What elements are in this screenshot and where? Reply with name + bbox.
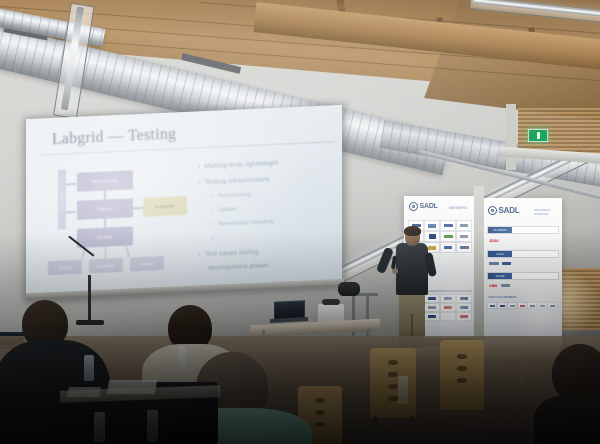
banner-right-associate-grid [487, 302, 557, 309]
banner-band-gold: GOLD [487, 250, 559, 258]
diagram-box-top: Test Scripts [77, 170, 133, 192]
chair-backrest-slot [315, 398, 325, 403]
emergency-exit-sign [528, 129, 548, 142]
banner-band-platinum: PLATINUM [487, 226, 559, 234]
sponsor-logo-cell [497, 302, 507, 309]
slide-bullet-4: ▪Networking / bonding [212, 219, 274, 228]
sadl-brand-text: SADL [420, 203, 438, 210]
diagram-box-mid: Library [77, 198, 133, 220]
backpack [338, 282, 360, 296]
sadl-brand-text: SADL [499, 206, 520, 215]
microphone-stand-base [76, 320, 104, 325]
banner-right-subtitle: ADVISORY COUNCIL [534, 209, 560, 216]
sponsor-logo-cell [537, 302, 547, 309]
diagram-box-leaf-2: Network [89, 258, 123, 274]
sponsor-logo [502, 262, 511, 265]
speaker-torso [396, 243, 428, 295]
diagram-box-drivers-label: Drivers [97, 234, 113, 240]
sponsor-logo-cell [440, 242, 456, 253]
water-bottle [94, 412, 105, 442]
presentation-slide: Labgrid — Testing Test runner Test Scrip… [26, 105, 342, 297]
speaker-shirt-pattern [396, 243, 428, 295]
banner-right: SADL ADVISORY COUNCIL PLATINUM JDSU GOLD… [482, 198, 562, 346]
diagram-box-mid-label: Library [97, 206, 112, 212]
banner-left-subtitle: MEMBERS [449, 206, 468, 210]
sponsor-logo-cell [456, 231, 472, 242]
conference-room-photo: Labgrid — Testing Test runner Test Scrip… [0, 0, 600, 444]
chair-backrest-slot [388, 384, 398, 389]
water-bottle [178, 346, 186, 366]
window-frame [506, 104, 516, 170]
banner-band-silver: SILVER [487, 272, 559, 280]
bullet-marker: ▪ [212, 236, 214, 242]
diagram-box-leaf-2-label: Network [97, 263, 115, 269]
chair-backrest-slot [457, 354, 467, 359]
chair-backrest-slot [388, 372, 398, 377]
equipment-handle [322, 299, 340, 305]
chair-backrest-slot [315, 422, 325, 427]
chair-leg [374, 416, 377, 442]
water-bottle [84, 355, 94, 381]
diagram-box-leaf-3: Power [130, 256, 164, 272]
chair-backrest-slot [457, 366, 467, 371]
diagram-box-exporter-label: Exporter [156, 203, 175, 209]
banner-associate-label: ASSOCIATE MEMBERS [488, 296, 517, 299]
sponsor-logo-cell [424, 220, 440, 231]
sponsor-logo-cell [456, 220, 472, 231]
sponsor-logo-cell [456, 303, 472, 312]
diagram-box-drivers: Drivers [77, 226, 133, 248]
sponsor-logo-cell [507, 302, 517, 309]
exit-pictogram [537, 132, 540, 139]
banner-silver-logos: ABB [489, 280, 555, 290]
projection-screen: Labgrid — Testing Test runner Test Scrip… [26, 105, 342, 297]
sponsor-logo-cell [424, 294, 440, 303]
wooden-chair [370, 348, 416, 418]
sponsor-logo-cell [440, 220, 456, 231]
speaker-hair [404, 226, 421, 236]
slide-bullet-0: •Making tests lightweight [198, 160, 278, 171]
band-label-silver: SILVER [488, 273, 512, 279]
sponsor-logo-cell [547, 302, 557, 309]
sponsor-logo-cell [456, 312, 472, 321]
slide-bullet-2-text: Provisioning [218, 192, 250, 199]
sponsor-logo [489, 262, 499, 265]
slide-bullet-1-text: Testing infrastructure: [204, 176, 270, 186]
chair-backrest-slot [315, 410, 325, 415]
bullet-marker: ▪ [212, 208, 214, 214]
diagram-side-label-text: Test runner [60, 189, 64, 209]
sponsor-logo-cell [440, 312, 456, 321]
chair-backrest-slot [457, 378, 467, 383]
slide-bullet-0-text: Making tests lightweight [204, 160, 278, 170]
sadl-logo-left: SADL [409, 202, 438, 211]
water-bottle [398, 376, 408, 404]
water-bottle [147, 410, 158, 442]
sponsor-logo-cell [517, 302, 527, 309]
abb-logo: ABB [489, 283, 497, 288]
chair-backrest-slot [388, 396, 398, 401]
sponsor-logo-cell [487, 302, 497, 309]
bullet-marker: • [198, 163, 200, 170]
sponsor-logo-cell [440, 231, 456, 242]
sponsor-logo-cell [424, 303, 440, 312]
attendee-far-right-shoulders [534, 394, 600, 444]
slide-title: Labgrid — Testing [52, 125, 176, 149]
sponsor-logo-cell [424, 312, 440, 321]
chair-leg [410, 416, 413, 442]
bullet-marker: ▪ [212, 222, 214, 228]
sponsor-logo [501, 284, 510, 287]
bullet-marker: • [198, 251, 200, 258]
slide-bullet-7: development phase [208, 262, 268, 272]
diagram-box-leaf-3-label: Power [140, 261, 154, 267]
slide-bullet-5: ▪... [212, 235, 223, 242]
band-label-gold: GOLD [488, 251, 512, 257]
sponsor-logo-cell [456, 242, 472, 253]
slide-bullet-1: •Testing infrastructure: [198, 176, 271, 186]
jdsu-logo: JDSU [489, 238, 498, 243]
slide-bullet-3-text: Update [218, 207, 237, 214]
diagram-box-leaf-1-label: Serial [59, 265, 72, 271]
sponsor-logo-cell [440, 294, 456, 303]
sponsor-logo-cell [527, 302, 537, 309]
banner-gold-logos [489, 258, 555, 268]
sponsor-logo-cell [424, 231, 440, 242]
slide-bullet-3: ▪Update [212, 207, 237, 214]
microphone-stand-pole [88, 275, 91, 323]
wall-column-between-banners [474, 186, 484, 356]
chair-backrest-slot [388, 360, 398, 365]
slide-bullet-6: •Test cases during [198, 249, 258, 259]
slide-bullet-6-text: Test cases during [204, 249, 258, 258]
slide-bullet-5-text: ... [218, 235, 223, 241]
sponsor-logo-cell [456, 294, 472, 303]
banner-platinum-logos: JDSU [487, 234, 557, 246]
sadl-logo-right: SADL [488, 206, 519, 215]
sadl-gear-icon [409, 202, 418, 211]
diagram-side-label: Test runner [58, 169, 66, 229]
sadl-gear-icon [488, 206, 497, 215]
slide-bullet-7-text: development phase [208, 262, 268, 272]
diagram-box-leaf-1: Serial [48, 260, 82, 276]
band-label-platinum: PLATINUM [488, 227, 512, 233]
bullet-marker: ▪ [212, 194, 214, 200]
slide-bullet-4-text: Networking / bonding [218, 219, 274, 228]
wooden-chair [440, 340, 484, 410]
sponsor-logo-cell [440, 303, 456, 312]
bullet-marker: • [198, 179, 200, 186]
diagram-box-exporter: Exporter [143, 196, 187, 217]
slide-bullet-2: ▪Provisioning [212, 192, 250, 200]
diagram-box-top-label: Test Scripts [92, 178, 118, 184]
